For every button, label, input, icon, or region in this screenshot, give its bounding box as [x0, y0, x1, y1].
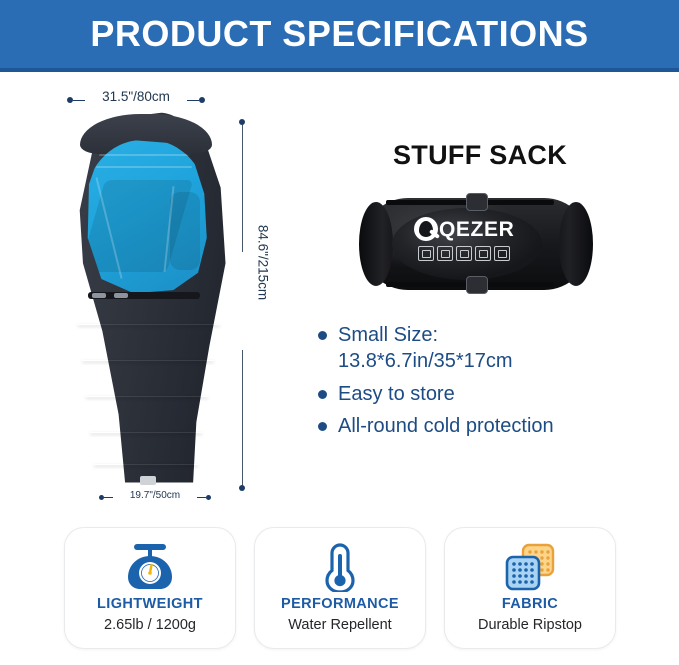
bullet-dot-icon — [318, 390, 327, 399]
dimension-arrow-line — [197, 497, 206, 498]
lining-fold — [92, 154, 196, 156]
stuff-sack-end-cap-left — [359, 202, 393, 286]
sleeping-bag-foot-tab — [140, 476, 156, 485]
dimension-arrow-line — [104, 497, 113, 498]
baffle-line — [90, 432, 202, 433]
stuff-sack-image: QEZER — [362, 190, 590, 298]
care-symbol-icon — [418, 246, 434, 261]
bullet-item: Small Size: 13.8*6.7in/35*17cm — [318, 322, 668, 375]
qezer-q-inner — [419, 221, 433, 237]
feature-card-subtitle: 2.65lb / 1200g — [104, 617, 196, 633]
baffle-line — [82, 360, 214, 361]
dimension-marker-dot — [239, 119, 245, 125]
dimension-height-label: 84.6"/215cm — [256, 208, 271, 318]
bullet-item-label: Small Size: — [338, 324, 438, 346]
zipper-pull — [114, 293, 128, 298]
feature-card-title: LIGHTWEIGHT — [97, 596, 203, 612]
qezer-q-mark-icon — [414, 217, 438, 241]
bullet-item-content: Small Size: 13.8*6.7in/35*17cm — [338, 322, 513, 375]
dimension-marker-dot — [239, 485, 245, 491]
dimension-arrow-line — [187, 100, 199, 101]
feature-card-lightweight: LIGHTWEIGHT 2.65lb / 1200g — [64, 527, 236, 649]
bullet-item-sublabel: 13.8*6.7in/35*17cm — [338, 348, 513, 374]
bullet-item-content: All-round cold protection — [338, 413, 554, 439]
thermometer-icon — [319, 540, 361, 594]
stuff-sack-title: STUFF SACK — [300, 140, 660, 171]
dimension-width-bottom: 19.7"/50cm — [96, 490, 214, 506]
dimension-width-top-label: 31.5"/80cm — [62, 89, 210, 104]
baffle-line — [86, 396, 208, 397]
zipper-pull — [92, 293, 106, 298]
strap-buckle — [466, 276, 488, 294]
strap-buckle — [466, 193, 488, 211]
kitchen-scale-icon — [124, 540, 176, 594]
dimension-width-bottom-label: 19.7"/50cm — [96, 490, 214, 501]
bullet-item-label: All-round cold protection — [338, 415, 554, 437]
lining-shadow — [170, 192, 200, 270]
feature-card-subtitle: Durable Ripstop — [478, 617, 582, 633]
bullet-dot-icon — [318, 331, 327, 340]
bullet-item-content: Easy to store — [338, 381, 455, 407]
qezer-logo: QEZER — [414, 216, 526, 242]
bullet-item: All-round cold protection — [318, 413, 668, 439]
dimension-width-top: 31.5"/80cm — [62, 89, 210, 111]
qezer-wordmark: QEZER — [439, 219, 514, 240]
sleeping-bag-lining — [84, 140, 208, 298]
product-specifications-infographic: PRODUCT SPECIFICATIONS 31.5"/80cm 84.6"/… — [0, 0, 679, 665]
page-title: PRODUCT SPECIFICATIONS — [90, 16, 588, 52]
bullet-dot-icon — [318, 422, 327, 431]
baffle-line — [78, 324, 220, 325]
dimension-marker-dot — [199, 97, 205, 103]
care-symbol-icon — [437, 246, 453, 261]
baffle-line — [94, 464, 198, 465]
ripstop-fabric-icon — [503, 540, 557, 594]
care-symbol-icon — [475, 246, 491, 261]
feature-card-row: LIGHTWEIGHT 2.65lb / 1200g PERFORMANCE W… — [64, 527, 616, 649]
bullet-item-label: Easy to store — [338, 383, 455, 405]
stuff-sack-end-cap-right — [559, 202, 593, 286]
care-symbol-icon — [456, 246, 472, 261]
feature-card-fabric: FABRIC Durable Ripstop — [444, 527, 616, 649]
care-symbol-icon — [494, 246, 510, 261]
bullet-item: Easy to store — [318, 381, 668, 407]
care-symbols-row — [418, 246, 510, 261]
feature-card-title: FABRIC — [502, 596, 558, 612]
header-banner: PRODUCT SPECIFICATIONS — [0, 0, 679, 68]
dimension-arrow-line — [73, 100, 85, 101]
dimension-label-backdrop — [236, 252, 250, 350]
feature-card-subtitle: Water Repellent — [288, 617, 391, 633]
feature-card-title: PERFORMANCE — [281, 596, 399, 612]
feature-bullet-list: Small Size: 13.8*6.7in/35*17cm Easy to s… — [318, 322, 668, 446]
dimension-marker-dot — [206, 495, 211, 500]
lining-fold — [96, 166, 192, 168]
feature-card-performance: PERFORMANCE Water Repellent — [254, 527, 426, 649]
sleeping-bag-image — [70, 112, 232, 490]
